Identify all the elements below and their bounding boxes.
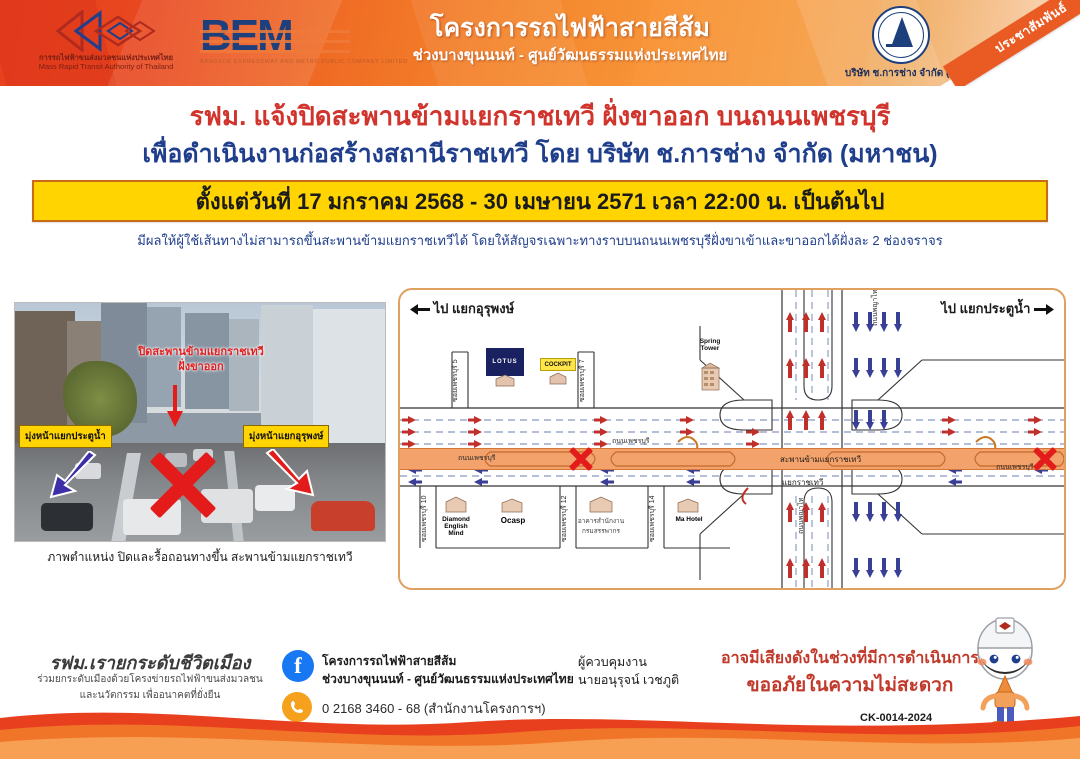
spring-tower-line1: Spring	[682, 338, 738, 345]
photo-label-right: มุ่งหน้าแยกอุรุพงษ์	[243, 425, 329, 448]
bem-subtitle: BANGKOK EXPRESSWAY AND METRO PUBLIC COMP…	[200, 59, 350, 65]
facebook-page-line2: ช่วงบางขุนนนท์ - ศูนย์วัฒนธรรมแห่งประเทศ…	[322, 670, 574, 689]
soi-label-0: ซอยเพชรบุรี 5	[450, 359, 461, 402]
site-photo: ปิดสะพานข้ามแยกราชเทวี ฝั่งขาออก มุ่งหน้…	[14, 302, 386, 542]
project-segment: ช่วงบางขุนนนท์ - ศูนย์วัฒนธรรมแห่งประเทศ…	[340, 43, 800, 67]
main-title-line1: รฟม. แจ้งปิดสะพานข้ามแยกราชเทวี ฝั่งขาออ…	[0, 96, 1080, 137]
main-title-line2: เพื่อดำเนินงานก่อสร้างสถานีราชเทวี โดย บ…	[0, 134, 1080, 174]
photo-blue-direction-arrow-icon	[43, 451, 99, 501]
photo-closure-caption: ปิดสะพานข้ามแยกราชเทวี ฝั่งขาออก	[101, 345, 301, 375]
mrta-logo: การรถไฟฟ้าขนส่งมวลชนแห่งประเทศไทย Mass R…	[8, 8, 204, 78]
closure-x-left-icon	[568, 446, 594, 472]
office-line1: อาคารสำนักงาน	[572, 516, 630, 526]
mrta-chevron-icon	[56, 10, 156, 52]
sub-note: มีผลให้ผู้ใช้เส้นทางไม่สามารถขึ้นสะพานข้…	[0, 230, 1080, 251]
mrta-caption-en: Mass Rapid Transit Authority of Thailand	[8, 62, 204, 71]
bridge-label: สะพานข้ามแยกราชเทวี	[780, 453, 861, 466]
bem-logo-text: BEM	[200, 14, 350, 58]
diamond-line1: Diamond	[430, 516, 482, 523]
soi-label-4: ซอยเพชรบุรี 14	[647, 495, 658, 542]
road-label-phayathai-bottom: ถนนพญาไท	[796, 498, 807, 534]
supervisor-label: ผู้ควบคุมงาน	[578, 652, 647, 672]
map-road-network	[400, 290, 1066, 590]
traffic-map: ไป แยกอุรุพงษ์ ไป แยกประตูน้ำ	[398, 288, 1066, 590]
road-label-phetchaburi-3: ถนนเพชรบุรี	[996, 462, 1034, 473]
photo-closed-x-icon	[147, 449, 219, 521]
soi-label-1: ซอยเพชรบุรี 7	[577, 359, 588, 402]
supervisor-name: นายอนุรุจน์ เวชภูติ	[578, 670, 679, 690]
landmark-building-icon	[548, 372, 568, 386]
notice-page: การรถไฟฟ้าขนส่งมวลชนแห่งประเทศไทย Mass R…	[0, 0, 1080, 759]
diamond-line2: English	[430, 523, 482, 530]
photo-caption: ภาพตำแหน่ง ปิดและรื้อถอนทางขึ้น สะพานข้า…	[14, 548, 386, 567]
landmark-building-icon	[444, 496, 468, 514]
intersection-label: แยกราชเทวี	[782, 476, 823, 489]
landmark-spring-tower: Spring Tower	[682, 338, 738, 352]
soi-label-2: ซอยเพชรบุรี 10	[419, 495, 430, 542]
photo-vehicle	[41, 503, 93, 531]
bem-logo: BEM BANGKOK EXPRESSWAY AND METRO PUBLIC …	[200, 14, 350, 72]
landmark-ma-hotel: Ma Hotel	[666, 516, 712, 523]
landmark-diamond-english-mind: Diamond English Mind	[430, 516, 482, 537]
landmark-building-icon	[494, 374, 516, 388]
diamond-line3: Mind	[430, 530, 482, 537]
date-banner-text: ตั้งแต่วันที่ 17 มกราคม 2568 - 30 เมษายน…	[196, 184, 885, 219]
photo-label-left: มุ่งหน้าแยกประตูน้ำ	[19, 425, 112, 448]
facebook-glyph: f	[282, 650, 314, 682]
photo-red-direction-arrow-icon	[263, 449, 321, 501]
header-banner: การรถไฟฟ้าขนส่งมวลชนแห่งประเทศไทย Mass R…	[0, 0, 1080, 86]
landmark-office-building: อาคารสำนักงาน กรมสรรพากร	[572, 516, 630, 536]
photo-closure-line1: ปิดสะพานข้ามแยกราชเทวี	[101, 345, 301, 360]
photo-closure-line2: ฝั่งขาออก	[101, 360, 301, 375]
landmark-building-icon	[588, 496, 614, 514]
landmark-building-icon	[676, 498, 700, 514]
landmark-lotus-logo: LOTUS	[486, 348, 524, 376]
landmark-cockpit-logo: COCKPIT	[540, 358, 576, 371]
mrta-slogan-sub1: ร่วมยกระดับเมืองด้วยโครงข่ายรถไฟฟ้าขนส่ง…	[10, 672, 290, 687]
bridge-deck-outline	[400, 446, 1066, 472]
project-title: โครงการรถไฟฟ้าสายสีส้ม	[360, 8, 780, 48]
apology-line2: ขออภัยในความไม่สะดวก	[700, 670, 1000, 700]
facebook-page-line1: โครงการรถไฟฟ้าสายสีส้ม	[322, 652, 456, 671]
road-label-phayathai-top: ถนนพญาไท	[870, 290, 881, 326]
office-line2: กรมสรรพากร	[572, 526, 630, 536]
photo-down-arrow-icon	[165, 385, 185, 429]
landmark-building-icon	[500, 498, 524, 514]
road-label-phetchaburi-2: ถนนเพชรบุรี	[612, 436, 650, 447]
landmark-ocasp: Ocasp	[492, 516, 534, 525]
spring-tower-line2: Tower	[682, 345, 738, 352]
photo-vehicle	[311, 501, 375, 531]
ck-emblem-icon	[872, 6, 930, 64]
facebook-icon[interactable]: f	[282, 650, 314, 682]
road-label-phetchaburi-1: ถนนเพชรบุรี	[458, 453, 496, 464]
title-block: รฟม. แจ้งปิดสะพานข้ามแยกราชเทวี ฝั่งขาออ…	[0, 86, 1080, 178]
apology-line1: อาจมีเสียงดังในช่วงที่มีการดำเนินการ	[700, 646, 1000, 671]
landmark-tower-icon	[696, 362, 724, 392]
closure-x-right-icon	[1032, 446, 1058, 472]
footer-wave-decoration	[0, 700, 1080, 759]
soi-label-3: ซอยเพชรบุรี 12	[559, 495, 570, 542]
date-banner: ตั้งแต่วันที่ 17 มกราคม 2568 - 30 เมษายน…	[32, 180, 1048, 222]
